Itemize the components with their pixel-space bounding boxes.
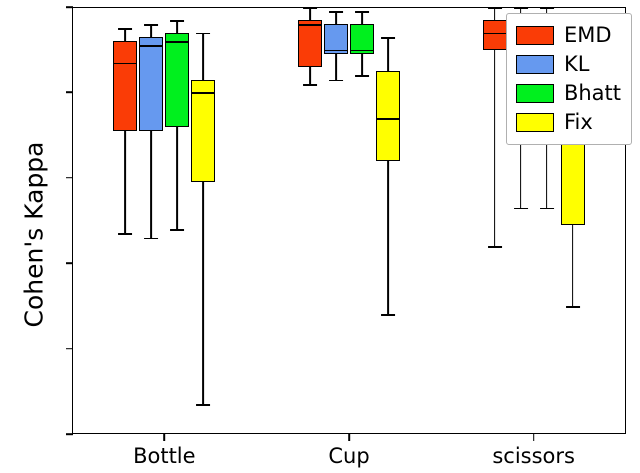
whisker-lower: [572, 225, 574, 306]
whisker-cap-lower: [170, 229, 184, 231]
legend-swatch-emd: [516, 26, 554, 45]
whisker-upper: [361, 11, 363, 24]
whisker-cap-lower: [355, 75, 369, 77]
x-axis-tick-label-cup: Cup: [249, 444, 449, 468]
whisker-cap-lower: [488, 246, 502, 248]
whisker-lower: [335, 54, 337, 80]
whisker-cap-lower: [144, 238, 158, 240]
legend-item-emd[interactable]: EMD: [516, 21, 621, 50]
median-line: [298, 24, 322, 26]
whisker-cap-upper: [488, 7, 502, 9]
whisker-cap-upper: [303, 7, 317, 9]
whisker-upper: [124, 28, 126, 41]
whisker-upper: [494, 7, 496, 20]
whisker-upper: [309, 7, 311, 20]
whisker-lower: [387, 161, 389, 315]
whisker-cap-upper: [118, 28, 132, 30]
box-rect-fix-bottle: [191, 80, 215, 182]
whisker-upper: [335, 11, 337, 24]
x-axis-tick-label-bottle: Bottle: [64, 444, 264, 468]
x-axis-tick-mark: [533, 434, 535, 441]
y-axis-tick-mark: [66, 6, 73, 8]
whisker-lower: [124, 131, 126, 233]
x-axis-tick-mark: [348, 434, 350, 441]
box-rect-emd-cup: [298, 20, 322, 67]
median-line: [376, 118, 400, 120]
whisker-cap-lower: [540, 208, 554, 210]
whisker-cap-upper: [381, 37, 395, 39]
whisker-cap-lower: [196, 404, 210, 406]
whisker-upper: [387, 37, 389, 71]
whisker-lower: [202, 182, 204, 404]
legend-swatch-bhatt: [516, 84, 554, 103]
median-line: [113, 63, 137, 65]
legend[interactable]: EMDKLBhattFix: [506, 13, 632, 145]
whisker-lower: [150, 131, 152, 238]
legend-label-bhatt: Bhatt: [564, 83, 621, 104]
x-axis-tick-label-scissors: scissors: [434, 444, 634, 468]
whisker-cap-upper: [329, 11, 343, 13]
median-line: [165, 41, 189, 43]
y-axis-tick-mark: [66, 92, 73, 94]
median-line: [324, 50, 348, 52]
whisker-cap-upper: [540, 7, 554, 9]
whisker-cap-upper: [170, 20, 184, 22]
whisker-cap-upper: [144, 24, 158, 26]
whisker-lower: [361, 54, 363, 75]
whisker-lower: [309, 67, 311, 84]
legend-swatch-fix: [516, 113, 554, 132]
box-rect-fix-cup: [376, 71, 400, 161]
median-line: [350, 50, 374, 52]
legend-label-kl: KL: [564, 54, 589, 75]
y-axis-tick-mark: [66, 177, 73, 179]
legend-label-fix: Fix: [564, 112, 593, 133]
whisker-cap-upper: [514, 7, 528, 9]
y-axis-tick-mark: [66, 348, 73, 350]
legend-item-fix[interactable]: Fix: [516, 108, 621, 137]
y-axis-label: Cohen's Kappa: [20, 25, 49, 445]
whisker-cap-upper: [196, 33, 210, 35]
legend-label-emd: EMD: [564, 25, 612, 46]
whisker-cap-lower: [329, 80, 343, 82]
box-rect-kl-bottle: [139, 37, 163, 131]
whisker-cap-lower: [514, 208, 528, 210]
legend-swatch-kl: [516, 55, 554, 74]
y-axis-tick-mark: [66, 262, 73, 264]
box-rect-emd-scissors: [483, 20, 507, 50]
legend-item-bhatt[interactable]: Bhatt: [516, 79, 621, 108]
whisker-upper: [150, 24, 152, 37]
whisker-lower: [494, 50, 496, 246]
box-plot-figure: 0.00.20.40.60.81.0 BottleCupscissors Coh…: [0, 0, 640, 473]
whisker-upper: [202, 33, 204, 80]
x-axis-tick-mark: [164, 434, 166, 441]
whisker-cap-lower: [381, 314, 395, 316]
whisker-cap-lower: [118, 233, 132, 235]
whisker-cap-lower: [303, 84, 317, 86]
y-axis-tick-mark: [66, 433, 73, 435]
median-line: [139, 45, 163, 47]
legend-item-kl[interactable]: KL: [516, 50, 621, 79]
whisker-lower: [176, 127, 178, 229]
whisker-upper: [176, 20, 178, 33]
box-rect-emd-bottle: [113, 41, 137, 131]
median-line: [191, 92, 215, 94]
box-rect-bhatt-bottle: [165, 33, 189, 127]
whisker-cap-upper: [355, 11, 369, 13]
whisker-cap-lower: [566, 306, 580, 308]
median-line: [483, 33, 507, 35]
